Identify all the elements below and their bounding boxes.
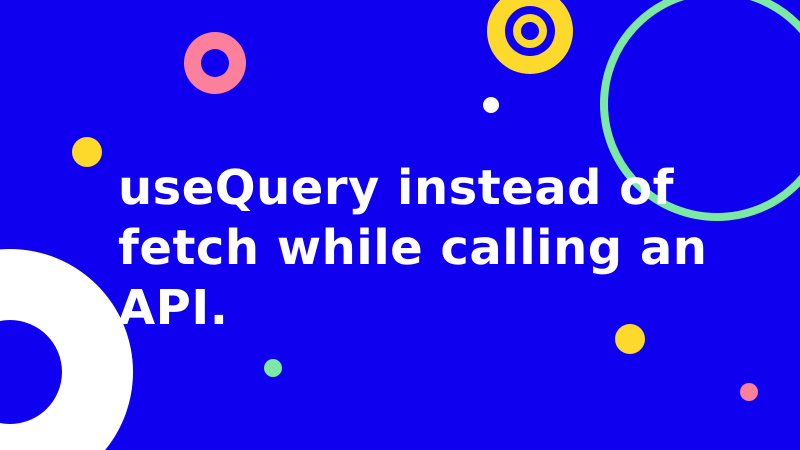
slide-canvas: useQuery instead of fetch while calling … (0, 0, 800, 450)
yellow-bullseye-center-dot (521, 22, 539, 40)
pink-donut-shape (184, 32, 246, 94)
white-donut-shape (0, 249, 133, 450)
page-title: useQuery instead of fetch while calling … (118, 158, 718, 338)
yellow-dot-left-shape (72, 137, 102, 167)
pink-dot-bottom-right-shape (740, 383, 758, 401)
white-dot-top-shape (483, 97, 499, 113)
green-dot-bottom-left-shape (264, 359, 282, 377)
